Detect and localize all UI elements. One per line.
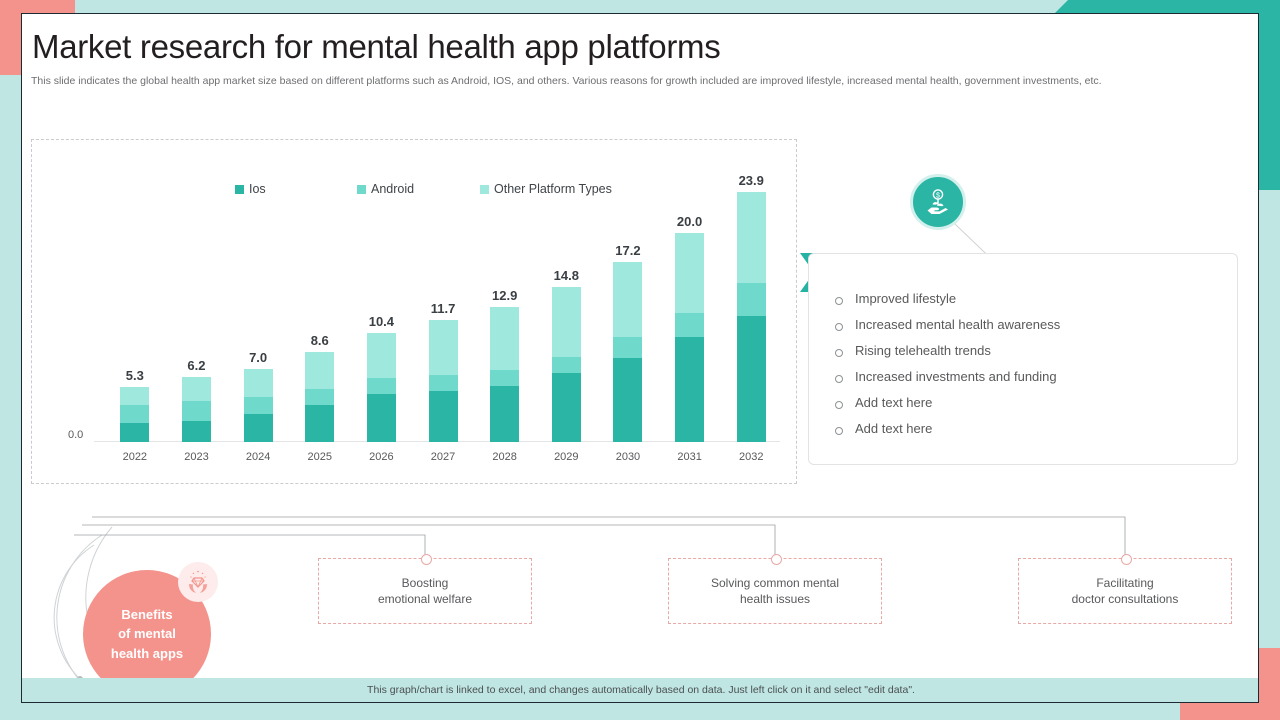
footer-note: This graph/chart is linked to excel, and… [22,678,1259,702]
bar-column[interactable]: 23.9 [720,166,782,442]
bar-segment-android [182,401,211,421]
chart-panel[interactable]: Ios Android Other Platform Types 0.0 5.3… [31,139,797,484]
bar-segment-android [367,378,396,394]
bar-segment-ios [552,373,581,442]
bar-total-label: 20.0 [677,214,702,229]
x-axis-label: 2026 [351,451,413,463]
bar-segment-android [737,283,766,316]
bar-stack [429,320,458,442]
reason-item-label: Rising telehealth trends [855,343,991,358]
benefit-box-2-line-1: Solving common mental [711,575,839,591]
bar-segment-ios [737,316,766,442]
bar-segment-other-platform-types [429,320,458,375]
bar-segment-other-platform-types [737,192,766,283]
bar-segment-ios [613,358,642,442]
x-axis-label: 2025 [289,451,351,463]
x-axis-label: 2028 [474,451,536,463]
bar-segment-ios [244,414,273,442]
bar-stack [244,369,273,442]
x-axis-label: 2030 [597,451,659,463]
bar-stack [305,352,334,442]
reason-item-label: Add text here [855,395,932,410]
bar-total-label: 12.9 [492,288,517,303]
x-axis-label: 2023 [166,451,228,463]
y-axis-tick-zero: 0.0 [68,429,83,441]
slide-subtitle: This slide indicates the global health a… [31,74,1181,88]
benefits-line-3: health apps [111,644,183,664]
benefit-node-2 [771,554,782,565]
benefit-box-3[interactable]: Facilitating doctor consultations [1018,558,1232,624]
x-axis-label: 2022 [104,451,166,463]
bar-segment-android [305,389,334,406]
bar-column[interactable]: 10.4 [351,166,413,442]
benefit-box-2-line-2: health issues [711,591,839,607]
bar-segment-ios [429,391,458,442]
bar-segment-other-platform-types [552,287,581,357]
bar-segment-ios [305,405,334,442]
bar-segment-android [490,370,519,386]
bar-total-label: 14.8 [554,268,579,283]
bar-segment-ios [120,423,149,442]
benefits-line-1: Benefits [111,605,183,625]
bar-column[interactable]: 6.2 [166,166,228,442]
reasons-list: Improved lifestyleIncreased mental healt… [835,291,1060,447]
x-axis-label: 2032 [720,451,782,463]
benefit-box-1-line-1: Boosting [378,575,472,591]
bar-segment-other-platform-types [367,333,396,378]
x-axis-label: 2029 [535,451,597,463]
bar-stack [120,387,149,442]
benefit-box-1-line-2: emotional welfare [378,591,472,607]
bullet-icon [835,323,843,331]
bar-segment-other-platform-types [182,377,211,401]
bar-segment-android [613,337,642,358]
bar-segment-ios [675,337,704,442]
bar-stack [490,307,519,442]
bar-column[interactable]: 8.6 [289,166,351,442]
bar-stack [182,377,211,442]
bar-segment-android [675,313,704,337]
bar-segment-ios [490,386,519,442]
chart-bars: 5.36.27.08.610.411.712.914.817.220.023.9 [104,166,782,442]
bullet-icon [835,427,843,435]
diamond-hands-icon [178,562,218,602]
bar-total-label: 11.7 [431,301,456,316]
bar-stack [367,333,396,442]
bar-stack [675,233,704,442]
bar-segment-ios [367,394,396,442]
bar-segment-other-platform-types [490,307,519,370]
bar-stack [613,262,642,442]
bar-total-label: 7.0 [249,350,267,365]
x-axis-label: 2027 [412,451,474,463]
bar-column[interactable]: 7.0 [227,166,289,442]
bar-column[interactable]: 5.3 [104,166,166,442]
bar-segment-other-platform-types [613,262,642,337]
reason-item[interactable]: Increased investments and funding [835,369,1060,395]
bar-total-label: 8.6 [311,333,329,348]
reason-item[interactable]: Add text here [835,395,1060,421]
x-axis-label: 2031 [659,451,721,463]
reason-item-label: Improved lifestyle [855,291,956,306]
benefit-node-3 [1121,554,1132,565]
reason-item-label: Increased mental health awareness [855,317,1060,332]
svg-text:$: $ [936,193,940,200]
reason-item-label: Add text here [855,421,932,436]
reason-item[interactable]: Increased mental health awareness [835,317,1060,343]
bar-segment-other-platform-types [675,233,704,314]
bar-segment-android [552,357,581,373]
bar-column[interactable]: 20.0 [659,166,721,442]
reason-item[interactable]: Rising telehealth trends [835,343,1060,369]
bullet-icon [835,401,843,409]
bullet-icon [835,375,843,383]
bar-segment-ios [182,421,211,442]
reasons-panel: Improved lifestyleIncreased mental healt… [808,253,1238,465]
benefit-node-1 [421,554,432,565]
reason-item[interactable]: Add text here [835,421,1060,447]
chart-x-labels: 2022202320242025202620272028202920302031… [104,451,782,463]
bar-segment-other-platform-types [244,369,273,397]
reason-item[interactable]: Improved lifestyle [835,291,1060,317]
bullet-icon [835,297,843,305]
bar-total-label: 6.2 [187,358,205,373]
benefits-line-2: of mental [111,624,183,644]
bar-segment-android [429,375,458,391]
bar-segment-other-platform-types [305,352,334,389]
x-axis-label: 2024 [227,451,289,463]
benefit-box-1[interactable]: Boosting emotional welfare [318,558,532,624]
bar-total-label: 5.3 [126,368,144,383]
page-title: Market research for mental health app pl… [32,28,720,66]
bar-total-label: 10.4 [369,314,394,329]
reason-item-label: Increased investments and funding [855,369,1057,384]
bar-column[interactable]: 11.7 [412,166,474,442]
benefit-box-3-line-1: Facilitating [1072,575,1179,591]
bar-segment-android [244,397,273,414]
bar-column[interactable]: 17.2 [597,166,659,442]
bar-stack [737,192,766,442]
bar-column[interactable]: 14.8 [535,166,597,442]
bar-segment-other-platform-types [120,387,149,406]
benefit-box-2[interactable]: Solving common mental health issues [668,558,882,624]
benefit-box-3-line-2: doctor consultations [1072,591,1179,607]
bar-segment-android [120,405,149,423]
bullet-icon [835,349,843,357]
money-plant-icon: $ [910,174,966,230]
bar-column[interactable]: 12.9 [474,166,536,442]
slide-canvas: Market research for mental health app pl… [21,13,1259,703]
bar-total-label: 23.9 [739,173,764,188]
bar-total-label: 17.2 [615,243,640,258]
bar-stack [552,287,581,442]
